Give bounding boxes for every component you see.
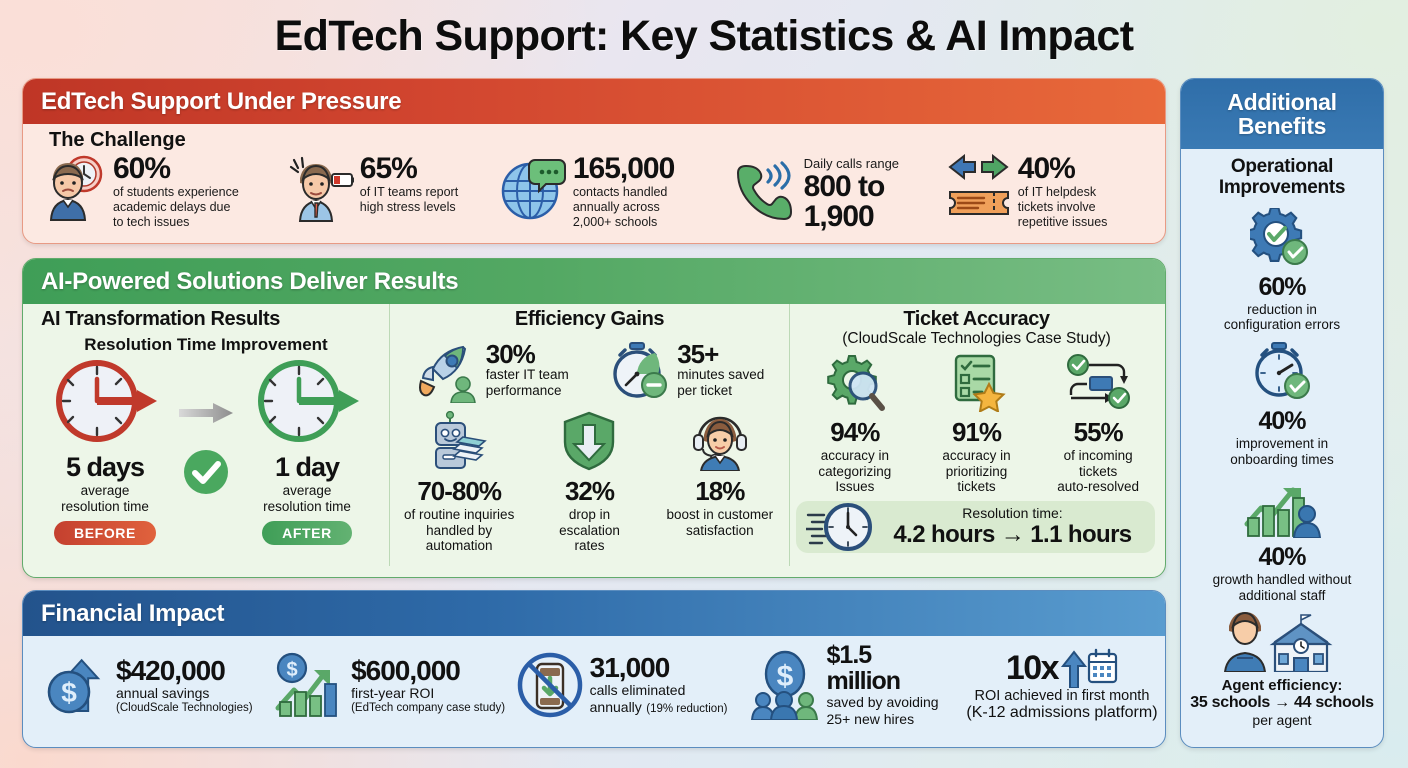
stat-value: 165,000 [573, 152, 674, 185]
efficiency-item-robot: 70-80% of routine inquiries handled by a… [394, 411, 524, 554]
efficiency-item-rocket: 30% faster IT team performance [396, 341, 590, 403]
stat-it-stress: 65% of IT teams report high stress level… [282, 154, 497, 227]
challenge-subheader: The Challenge [49, 129, 1153, 152]
stat-value: 65% [360, 152, 417, 185]
stat-value: 800 to [804, 172, 899, 203]
sidebar-subheader: Operational Improvements [1189, 157, 1375, 199]
before-value: 5 days [39, 452, 171, 483]
gear-check-icon [1250, 208, 1314, 268]
before-block: 5 days average resolution time BEFORE [39, 357, 171, 545]
stat-label: of IT teams report high stress levels [360, 185, 458, 216]
ticket-accuracy-column: Ticket Accuracy (CloudScale Technologies… [789, 304, 1163, 566]
benefit-value: 60% [1189, 273, 1375, 302]
pressure-panel: EdTech Support Under Pressure The Challe… [22, 78, 1166, 244]
robot-documents-icon [428, 411, 490, 471]
stat-value-2: 1,900 [804, 202, 899, 233]
sidebar-header: Additional Benefits [1181, 79, 1383, 149]
after-value: 1 day [241, 452, 373, 483]
dollar-people-icon: $ [750, 650, 820, 720]
financial-note: (19% reduction) [646, 703, 727, 715]
financial-value: $600,000 [351, 656, 505, 685]
efficiency-value: 32% [524, 476, 654, 507]
agent-efficiency-value: 35 schools → 44 schools [1189, 694, 1375, 712]
stat-label: contacts handled annually across 2,000+ … [573, 185, 674, 231]
fast-clock-icon [806, 501, 872, 553]
no-phone-icon [517, 652, 583, 718]
auto-resolve-flow-icon [1065, 354, 1131, 412]
accuracy-label: accuracy in categorizing Issues [794, 448, 916, 495]
accuracy-label: of incoming tickets auto-resolved [1037, 448, 1159, 495]
efficiency-label: faster IT team performance [486, 367, 569, 399]
stat-value: 40% [1018, 152, 1075, 185]
efficiency-item-stopwatch: 35+ minutes saved per ticket [590, 341, 784, 403]
financial-impact-panel: Financial Impact $ $420,000 annual savin… [22, 590, 1166, 748]
before-label: average resolution time [39, 483, 171, 514]
financial-item-avoided-hires: $ $1.5 million saved by avoiding 25+ new… [750, 642, 965, 728]
growth-chart-person-icon [1243, 476, 1321, 538]
svg-text:$: $ [61, 677, 77, 708]
accuracy-value: 55% [1037, 417, 1159, 448]
stat-students-delays: 60% of students experience academic dela… [35, 154, 282, 230]
dollar-coin-up-arrow-icon: $ [47, 652, 109, 718]
checklist-star-icon [946, 354, 1006, 412]
benefit-value: 40% [1189, 407, 1375, 436]
green-check-icon [182, 448, 230, 496]
ringing-phone-icon [734, 160, 798, 227]
resolution-time-box: Resolution time: 4.2 hours → 1.1 hours [796, 501, 1155, 553]
infographic-page: EdTech Support: Key Statistics & AI Impa… [0, 0, 1408, 768]
efficiency-label: minutes saved per ticket [677, 367, 764, 399]
stressed-worker-battery-icon [282, 154, 354, 227]
before-pill: BEFORE [54, 521, 156, 545]
stat-repetitive-tickets: 40% of IT helpdesk tickets involve repet… [946, 154, 1153, 231]
after-pill: AFTER [262, 521, 352, 545]
accuracy-value: 94% [794, 417, 916, 448]
efficiency-label: boost in customer satisfaction [655, 507, 785, 538]
agent-school-icon [1217, 610, 1347, 672]
col3-subtitle: (CloudScale Technologies Case Study) [790, 330, 1163, 348]
accuracy-item-prioritizing: 91% accuracy in prioritizing tickets [916, 354, 1038, 495]
arrows-ticket-icon [946, 154, 1012, 231]
financial-label: saved by avoiding 25+ new hires [827, 694, 939, 728]
financial-item-annual-savings: $ $420,000 annual savings (CloudScale Te… [29, 652, 274, 718]
accuracy-item-autoresolved: 55% of incoming tickets auto-resolved [1037, 354, 1159, 495]
pressure-panel-header: EdTech Support Under Pressure [23, 79, 1165, 124]
financial-label-2: annually [590, 699, 642, 715]
financial-item-roi-first-month: 10x ROI achieved in first month (K-12 ad… [965, 648, 1159, 722]
green-clock-arrow-icon [247, 357, 367, 447]
benefit-value: 40% [1189, 543, 1375, 572]
agent-efficiency-label: Agent efficiency: [1189, 677, 1375, 694]
financial-item-calls-eliminated: 31,000 calls eliminated annually (19% re… [517, 652, 750, 718]
roi-arrow-calendar-icon [1060, 648, 1118, 688]
stat-label: of students experience academic delays d… [113, 185, 239, 231]
agent-efficiency-unit: per agent [1189, 712, 1375, 728]
resolution-time-label: Resolution time: [880, 505, 1145, 521]
stat-value: 60% [113, 152, 170, 185]
agent-efficiency-block: Agent efficiency: 35 schools → 44 school… [1189, 610, 1375, 728]
ai-solutions-panel: AI-Powered Solutions Deliver Results AI … [22, 258, 1166, 578]
efficiency-item-agent: 18% boost in customer satisfaction [655, 411, 785, 554]
efficiency-label: drop in escalation rates [524, 507, 654, 554]
financial-note: (CloudScale Technologies) [116, 702, 253, 714]
page-title: EdTech Support: Key Statistics & AI Impa… [0, 12, 1408, 61]
accuracy-label: accuracy in prioritizing tickets [916, 448, 1038, 495]
additional-benefits-panel: Additional Benefits Operational Improvem… [1180, 78, 1384, 748]
stat-daily-calls: Daily calls range 800 to 1,900 [734, 154, 946, 233]
efficiency-value: 30% [486, 341, 569, 367]
gray-arrow-icon [177, 401, 235, 425]
efficiency-value: 70-80% [394, 476, 524, 507]
ai-transformation-column: AI Transformation Results Resolution Tim… [23, 304, 389, 566]
svg-text:$: $ [776, 660, 793, 693]
financial-panel-header: Financial Impact [23, 591, 1165, 636]
shield-down-arrow-icon [561, 411, 617, 471]
efficiency-value: 35+ [677, 341, 764, 367]
benefit-label: growth handled without additional staff [1189, 572, 1375, 603]
financial-note: (K-12 admissions platform) [965, 704, 1159, 722]
financial-label: annual savings [116, 685, 253, 702]
headset-agent-icon [691, 411, 749, 471]
financial-value: 10x [1006, 649, 1058, 688]
benefit-label: reduction in configuration errors [1189, 302, 1375, 333]
col1-subtitle: Resolution Time Improvement [23, 335, 389, 355]
col1-title: AI Transformation Results [23, 308, 389, 331]
col2-title: Efficiency Gains [390, 308, 789, 331]
accuracy-item-categorizing: 94% accuracy in categorizing Issues [794, 354, 916, 495]
financial-value-2: million [827, 668, 939, 694]
financial-label: first-year ROI [351, 685, 505, 702]
efficiency-item-shield: 32% drop in escalation rates [524, 411, 654, 554]
efficiency-gains-column: Efficiency Gains 30% [389, 304, 789, 566]
efficiency-label: of routine inquiries handled by automati… [394, 507, 524, 554]
benefit-onboarding-times: 40% improvement in onboarding times [1189, 342, 1375, 467]
resolution-time-value: 4.2 hours → 1.1 hours [880, 521, 1145, 549]
after-block: 1 day average resolution time AFTER [241, 357, 373, 545]
financial-label: ROI achieved in first month [965, 688, 1159, 704]
stopwatch-check-icon [1251, 342, 1313, 402]
financial-label: calls eliminated [590, 682, 728, 699]
accuracy-value: 91% [916, 417, 1038, 448]
student-clock-icon [43, 154, 107, 227]
globe-chat-icon [497, 154, 567, 229]
stopwatch-minus-icon [608, 341, 670, 403]
red-clock-arrow-icon [45, 357, 165, 447]
rocket-person-icon [417, 341, 479, 403]
financial-item-first-year-roi: $ $600,000 first-year ROI (EdTech compan… [274, 652, 517, 718]
benefit-config-errors: 60% reduction in configuration errors [1189, 208, 1375, 333]
financial-value: $420,000 [116, 656, 253, 685]
financial-value: 31,000 [590, 653, 728, 682]
benefit-growth-handled: 40% growth handled without additional st… [1189, 476, 1375, 603]
stat-label: of IT helpdesk tickets involve repetitiv… [1018, 185, 1108, 231]
benefit-label: improvement in onboarding times [1189, 436, 1375, 467]
financial-note: (EdTech company case study) [351, 702, 505, 714]
dollar-growth-chart-icon: $ [274, 652, 344, 718]
financial-value: $1.5 [827, 642, 939, 668]
stat-contacts-handled: 165,000 contacts handled annually across… [497, 154, 734, 230]
svg-text:$: $ [287, 659, 298, 681]
efficiency-value: 18% [655, 476, 785, 507]
col3-title: Ticket Accuracy [790, 308, 1163, 331]
gear-magnifier-icon [823, 354, 887, 412]
transition-indicator [175, 401, 237, 501]
ai-panel-header: AI-Powered Solutions Deliver Results [23, 259, 1165, 304]
after-label: average resolution time [241, 483, 373, 514]
